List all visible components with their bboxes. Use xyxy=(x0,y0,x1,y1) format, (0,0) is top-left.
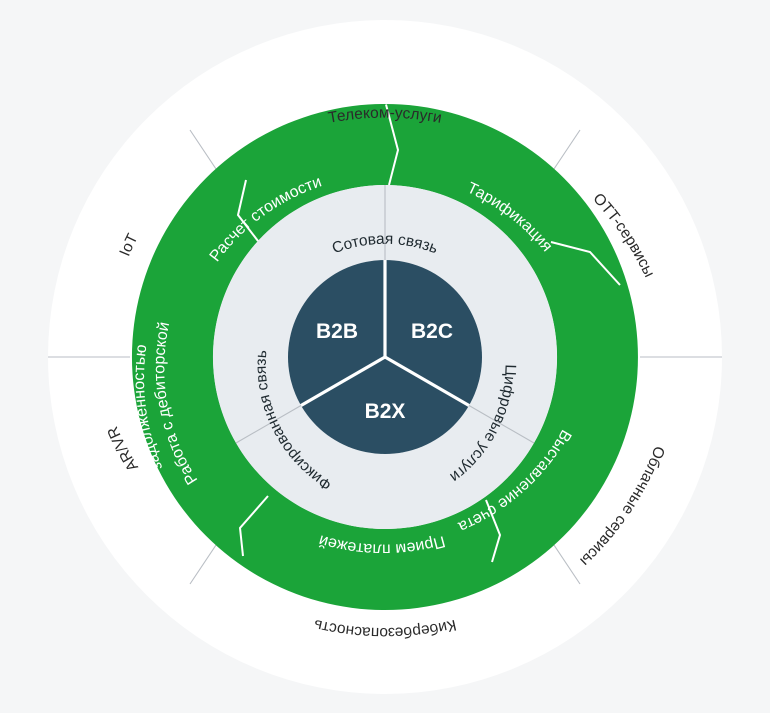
core-label-b2b: B2B xyxy=(316,320,358,343)
core-label-b2c: B2C xyxy=(411,320,453,343)
core-label-b2x: B2X xyxy=(365,400,406,423)
core-group xyxy=(288,260,482,454)
ring-wheel-diagram: Телеком-услуги OTT-сервисы Облачные серв… xyxy=(0,0,770,713)
diagram-root: Телеком-услуги OTT-сервисы Облачные серв… xyxy=(0,0,770,713)
